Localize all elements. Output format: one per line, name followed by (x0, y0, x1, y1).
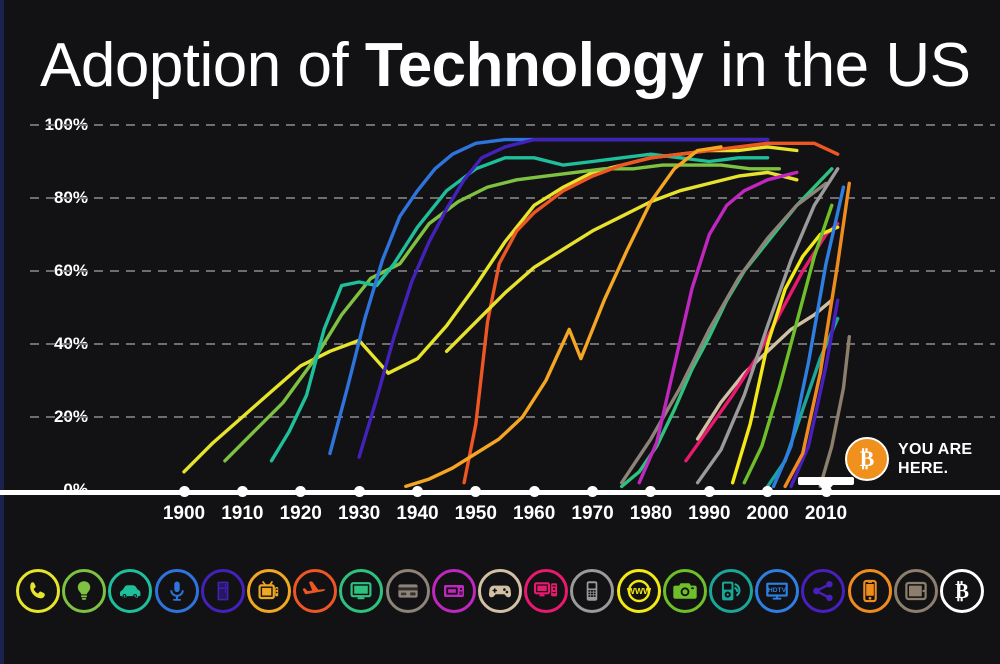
bitcoin-icon: ₿ (845, 437, 889, 481)
cellphone-icon[interactable] (570, 569, 614, 613)
svg-text:₿: ₿ (955, 579, 969, 603)
x-axis-tick-dot (762, 486, 773, 497)
microwave-icon[interactable] (432, 569, 476, 613)
tablet-icon[interactable] (894, 569, 938, 613)
microphone-icon[interactable] (155, 569, 199, 613)
technology-icon-legend: WWWHDTV₿ (0, 556, 1000, 626)
title-suffix: in the US (703, 31, 970, 100)
you-are-here-annotation: ₿ YOU ARE HERE. (845, 437, 972, 481)
gridlines (30, 125, 995, 417)
monitor-icon[interactable] (339, 569, 383, 613)
x-axis-tick-dot (645, 486, 656, 497)
smartphone-icon[interactable] (848, 569, 892, 613)
lightbulb-icon[interactable] (62, 569, 106, 613)
x-axis-tick-dot (704, 486, 715, 497)
x-axis-tick-dot (470, 486, 481, 497)
telephone-icon[interactable] (16, 569, 60, 613)
infographic-root: Adoption of Technology in the US 0%20%40… (0, 0, 1000, 664)
desktop-pc-icon[interactable] (524, 569, 568, 613)
title-prefix: Adoption of (40, 31, 365, 100)
title-emphasis: Technology (365, 31, 703, 100)
x-axis-tick-dot (354, 486, 365, 497)
x-axis-line (0, 490, 1000, 495)
svg-text:HDTV: HDTV (768, 587, 787, 594)
airplane-icon[interactable] (293, 569, 337, 613)
gamepad-icon[interactable] (478, 569, 522, 613)
x-axis-tick-dot (587, 486, 598, 497)
tv-icon[interactable] (247, 569, 291, 613)
x-axis-tick-dot (237, 486, 248, 497)
credit-card-icon[interactable] (386, 569, 430, 613)
page-title: Adoption of Technology in the US (40, 30, 980, 102)
bitcoin-icon[interactable]: ₿ (940, 569, 984, 613)
svg-text:WWW: WWW (626, 586, 651, 596)
mp3-icon[interactable] (709, 569, 753, 613)
x-axis-tick-dot (295, 486, 306, 497)
refrigerator-icon[interactable] (201, 569, 245, 613)
x-axis-tick-label: 2010 (791, 503, 861, 525)
x-axis-tick-dot (412, 486, 423, 497)
x-axis-tick-dot (179, 486, 190, 497)
car-icon[interactable] (108, 569, 152, 613)
hdtv-icon[interactable]: HDTV (755, 569, 799, 613)
x-axis-tick-dot (529, 486, 540, 497)
current-year-pointer (819, 485, 833, 493)
share-icon[interactable] (801, 569, 845, 613)
svg-text:₿: ₿ (860, 446, 875, 471)
camera-icon[interactable] (663, 569, 707, 613)
series-lines (184, 140, 849, 487)
you-are-here-label: YOU ARE HERE. (898, 440, 972, 478)
www-icon[interactable]: WWW (617, 569, 661, 613)
